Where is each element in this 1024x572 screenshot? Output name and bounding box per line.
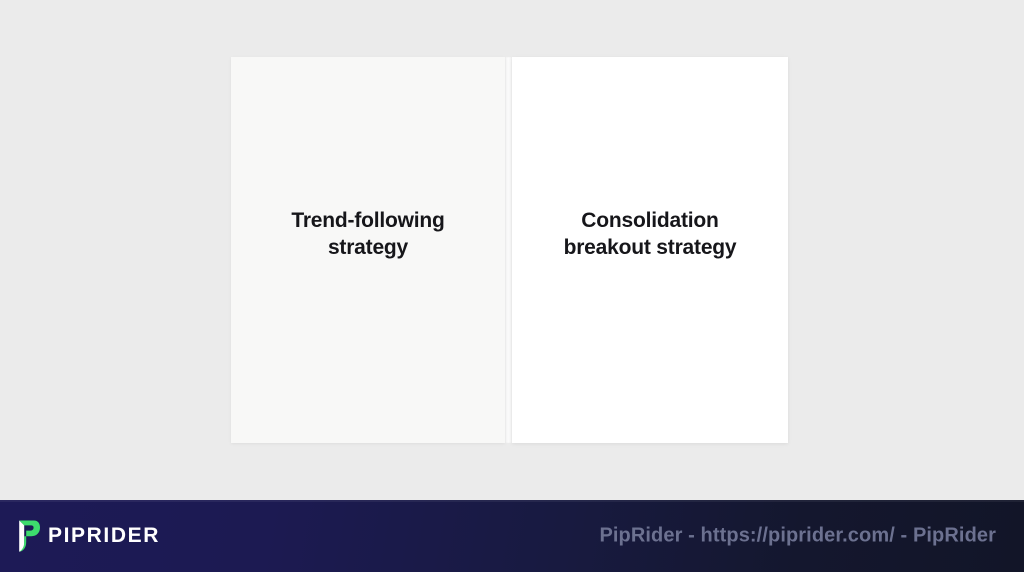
panel-trend-following-label: Trend-following strategy <box>253 57 483 261</box>
piprider-p-mark-icon <box>13 519 41 553</box>
panel-divider <box>505 57 512 443</box>
slide-root: Trend-following strategy Consolidation b… <box>0 0 1024 572</box>
panel-consolidation-breakout[interactable]: Consolidation breakout strategy <box>512 57 788 443</box>
footer-caption: PipRider - https://piprider.com/ - PipRi… <box>599 525 996 548</box>
panel-trend-following[interactable]: Trend-following strategy <box>231 57 505 443</box>
brand-name-text: PIPRIDER <box>48 524 160 548</box>
comparison-panels: Trend-following strategy Consolidation b… <box>231 57 788 443</box>
brand-logo[interactable]: PIPRIDER <box>13 519 160 553</box>
footer-top-divider <box>0 500 1024 502</box>
footer-bar: PIPRIDER PipRider - https://piprider.com… <box>0 500 1024 572</box>
panel-consolidation-breakout-label: Consolidation breakout strategy <box>535 57 765 261</box>
